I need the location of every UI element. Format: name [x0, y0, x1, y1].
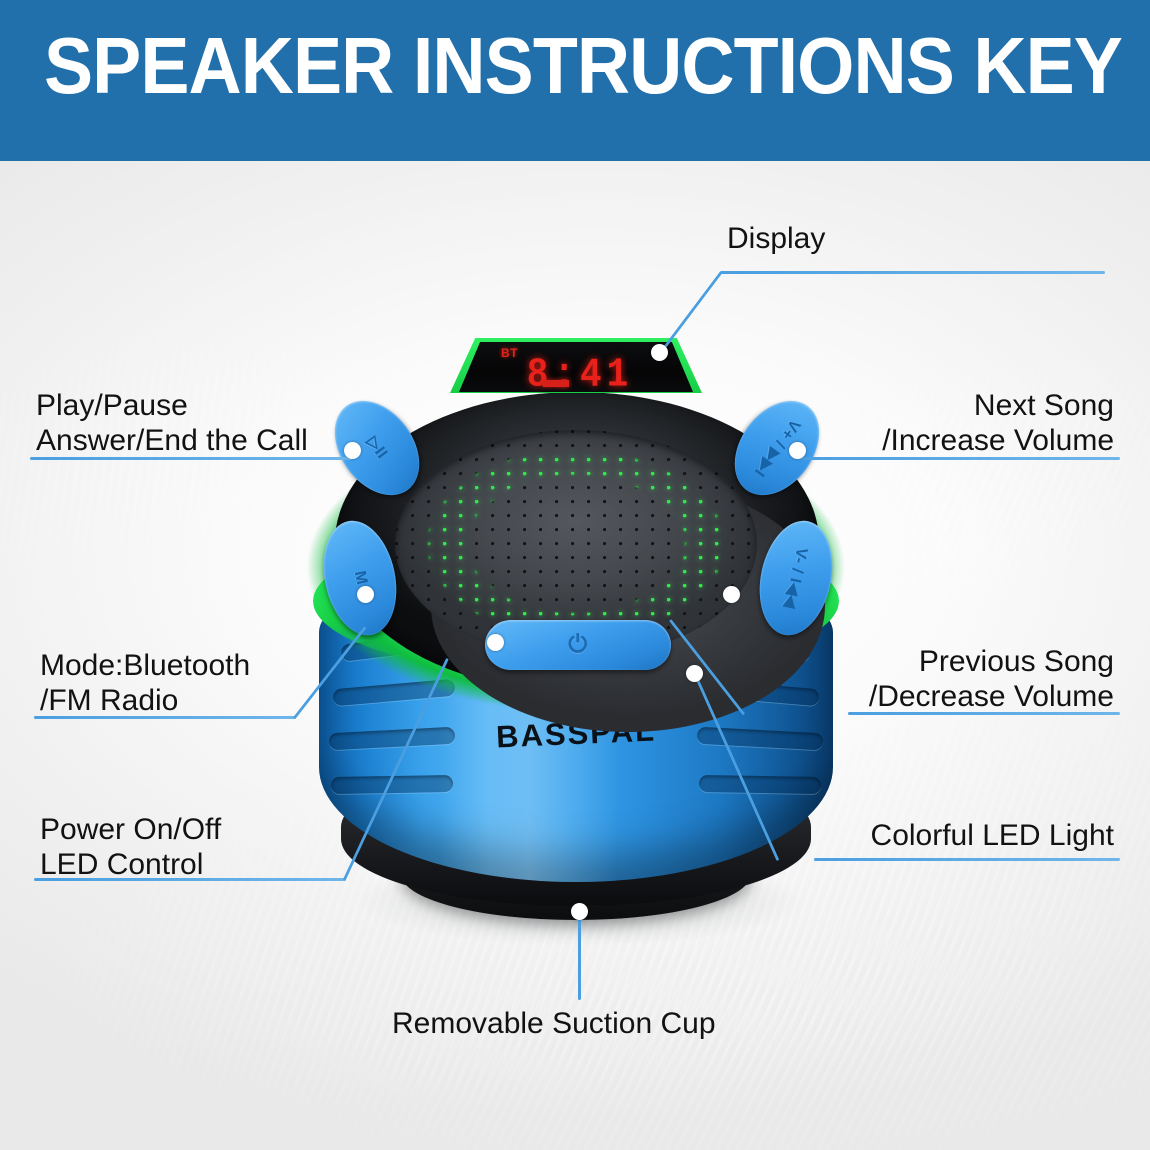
callout-suction-cup-label: Removable Suction Cup: [392, 1006, 716, 1041]
display-time: 8:41: [495, 352, 665, 392]
vent-slot: [699, 775, 821, 794]
callout-play-pause-line1: Play/Pause: [36, 389, 188, 422]
speaker-product-image: BASSPAL BT 8:41 ▷II V+ / ▶▶I M V- / I◀◀: [283, 330, 873, 940]
callout-next-song-leader: [798, 457, 1120, 460]
callout-power-line1: Power On/Off: [40, 813, 221, 846]
callout-display-leader-horizontal: [720, 271, 1105, 274]
power-button[interactable]: ⏻: [485, 620, 671, 670]
callout-next-song-label: Next Song /Increase Volume: [882, 388, 1114, 458]
callout-mode-line1: Mode:Bluetooth: [40, 649, 250, 682]
callout-mode-leader-horizontal: [34, 716, 296, 719]
callout-suction-cup-leader-vertical: [578, 916, 581, 1000]
callout-suction-cup-anchor-dot: [571, 903, 588, 920]
callout-play-pause-leader: [30, 457, 352, 460]
callout-previous-song-label: Previous Song /Decrease Volume: [869, 644, 1114, 714]
callout-colorful-led-leader-horizontal: [814, 858, 1120, 861]
callout-previous-song-line2: /Decrease Volume: [869, 680, 1114, 713]
callout-display-label: Display: [727, 221, 825, 256]
page-title: SPEAKER INSTRUCTIONS KEY: [44, 26, 1122, 106]
power-icon: ⏻: [568, 631, 587, 659]
callout-power-label: Power On/Off LED Control: [40, 812, 221, 882]
previous-song-button-label: V- / I◀◀: [780, 546, 812, 610]
callout-next-song-line1: Next Song: [974, 389, 1114, 422]
infographic-page: SPEAKER INSTRUCTIONS KEY BASSPAL: [0, 0, 1150, 1150]
header-band: SPEAKER INSTRUCTIONS KEY: [0, 0, 1150, 161]
callout-mode-label: Mode:Bluetooth /FM Radio: [40, 648, 250, 718]
callout-next-song-anchor-dot: [789, 442, 806, 459]
callout-display-anchor-dot: [651, 344, 668, 361]
play-pause-button-label: ▷II: [362, 433, 392, 463]
callout-play-pause-anchor-dot: [344, 442, 361, 459]
callout-power-anchor-dot: [487, 634, 504, 651]
callout-mode-anchor-dot: [357, 586, 374, 603]
callout-play-pause-line2: Answer/End the Call: [36, 424, 308, 457]
battery-icon: [543, 380, 569, 387]
callout-colorful-led-label: Colorful LED Light: [871, 818, 1114, 853]
callout-previous-song-anchor-dot: [723, 586, 740, 603]
callout-power-line2: LED Control: [40, 848, 203, 881]
callout-colorful-led-anchor-dot: [686, 665, 703, 682]
callout-previous-song-leader-horizontal: [848, 712, 1120, 715]
mode-button-label: M: [350, 569, 370, 586]
callout-play-pause-label: Play/Pause Answer/End the Call: [36, 388, 308, 458]
callout-power-leader-horizontal: [34, 878, 346, 881]
callout-next-song-line2: /Increase Volume: [882, 424, 1114, 457]
callout-previous-song-line1: Previous Song: [919, 645, 1114, 678]
callout-mode-line2: /FM Radio: [40, 684, 178, 717]
